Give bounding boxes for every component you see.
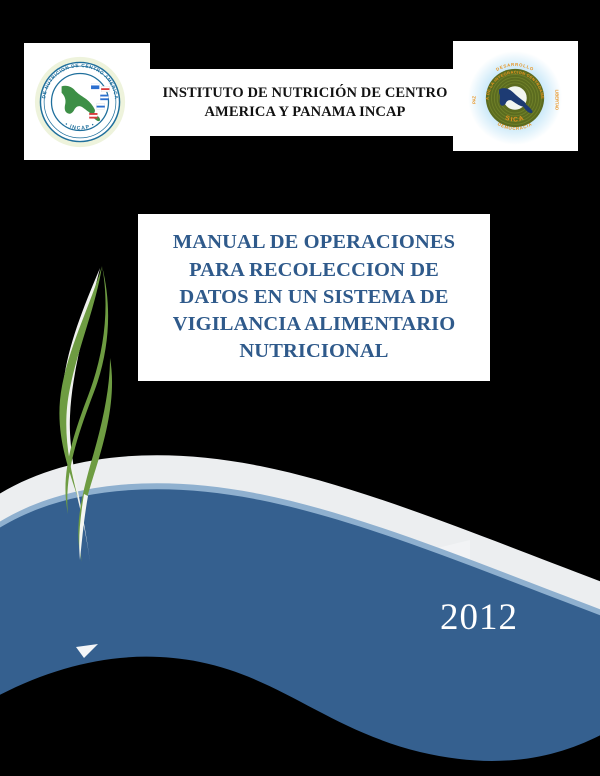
title-line-4: VIGILANCIA ALIMENTARIO (173, 311, 456, 338)
sica-seal-logo: DESARROLLO DEMOCRACIA PAZ LIBERTAD SISTE… (468, 51, 562, 145)
institution-name: INSTITUTO DE NUTRICIÓN DE CENTRO AMERICA… (143, 69, 467, 136)
title-line-3: DATOS EN UN SISTEMA DE (179, 284, 448, 311)
sica-outer-word-right: LIBERTAD (554, 90, 559, 111)
incap-seal-logo: INSTITUTO DE NUTRICION DE CENTRO AMERICA… (34, 56, 126, 148)
institution-line-2: AMERICA Y PANAMA INCAP (204, 103, 405, 122)
document-title: MANUAL DE OPERACIONES PARA RECOLECCION D… (138, 214, 490, 381)
leaf-stem-highlight (79, 494, 88, 560)
publication-year: 2012 (440, 596, 570, 639)
cover-page: INSTITUTO DE NUTRICION DE CENTRO AMERICA… (0, 0, 600, 776)
sica-outer-word-left: PAZ (472, 95, 477, 103)
title-line-1: MANUAL DE OPERACIONES (173, 229, 455, 256)
title-line-2: PARA RECOLECCION DE (189, 257, 439, 284)
title-line-5: NUTRICIONAL (239, 338, 388, 365)
green-leaf-graphic (38, 262, 148, 572)
institution-line-1: INSTITUTO DE NUTRICIÓN DE CENTRO (163, 84, 448, 103)
